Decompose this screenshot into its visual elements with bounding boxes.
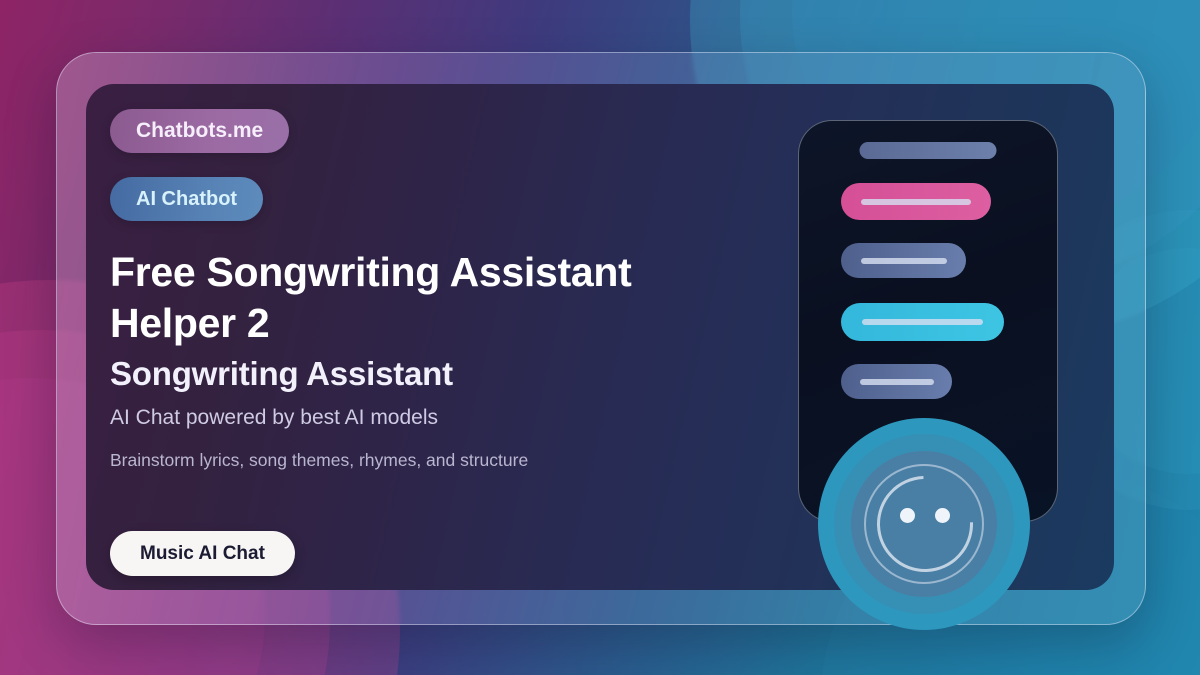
- chat-bubble-text-placeholder: [861, 258, 947, 264]
- avatar-eye-right: [935, 508, 950, 523]
- chat-bubble-pink: [841, 183, 991, 220]
- chat-bubble-text-placeholder: [862, 319, 983, 325]
- chat-bubble-slate-1: [841, 243, 966, 278]
- avatar-eye-left: [900, 508, 915, 523]
- chat-bubble-text-placeholder: [861, 199, 971, 205]
- smiley-face-icon: [818, 418, 1030, 614]
- music-ai-chat-button[interactable]: Music AI Chat: [110, 531, 295, 576]
- page-subtitle: Songwriting Assistant: [110, 354, 453, 394]
- tagline-text: AI Chat powered by best AI models: [110, 404, 438, 432]
- category-badge[interactable]: AI Chatbot: [110, 177, 263, 221]
- promo-banner: Chatbots.me AI Chatbot Free Songwriting …: [0, 0, 1200, 675]
- description-text: Brainstorm lyrics, song themes, rhymes, …: [110, 448, 528, 472]
- chat-bubble-cyan: [841, 303, 1004, 341]
- hero-content: Chatbots.me AI Chatbot Free Songwriting …: [110, 84, 770, 590]
- brand-badge[interactable]: Chatbots.me: [110, 109, 289, 153]
- chat-bubble-text-placeholder: [860, 379, 934, 385]
- page-title: Free Songwriting Assistant Helper 2: [110, 247, 730, 349]
- chat-bubble-slate-2: [841, 364, 952, 399]
- phone-notch-bar: [860, 142, 997, 159]
